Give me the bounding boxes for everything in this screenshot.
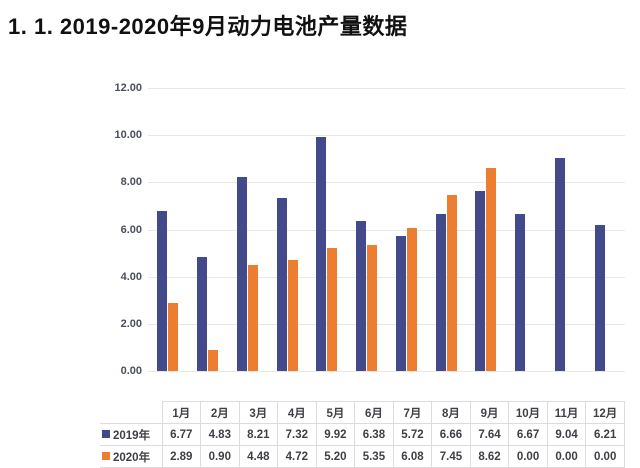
bar: [288, 260, 298, 371]
bar: [327, 248, 337, 371]
bar: [316, 137, 326, 371]
table-cell: 0.00: [547, 446, 586, 468]
y-axis-tick-label: 0.00: [96, 365, 142, 377]
bar: [515, 214, 525, 371]
bar-group: [466, 88, 506, 371]
table-row: 2020年2.890.904.484.725.205.356.087.458.6…: [100, 446, 625, 468]
bar: [486, 168, 496, 371]
table-column-header: 1月: [162, 402, 201, 424]
table-header-row: 1月2月3月4月5月6月7月8月9月10月11月12月: [100, 402, 625, 424]
table-column-header: 2月: [201, 402, 240, 424]
data-table: 1月2月3月4月5月6月7月8月9月10月11月12月 2019年6.774.8…: [100, 401, 625, 468]
table-cell: 6.66: [432, 424, 471, 446]
table-cell: 8.62: [470, 446, 509, 468]
legend-entry[interactable]: 2019年: [100, 424, 162, 446]
legend-swatch-icon: [102, 430, 110, 438]
table-column-header: 7月: [393, 402, 432, 424]
table-cell: 4.72: [278, 446, 317, 468]
y-axis: 0.002.004.006.008.0010.0012.00: [96, 88, 142, 371]
bar: [595, 225, 605, 371]
table-column-header: 12月: [586, 402, 625, 424]
table-cell: 7.64: [470, 424, 509, 446]
bar: [277, 198, 287, 371]
table-cell: 8.21: [239, 424, 278, 446]
bars-layer: [148, 88, 625, 371]
bar: [396, 236, 406, 371]
bar-group: [267, 88, 307, 371]
bar-group: [188, 88, 228, 371]
legend-entry[interactable]: 2020年: [100, 446, 162, 468]
y-axis-tick-label: 12.00: [96, 82, 142, 94]
table-column-header: 3月: [239, 402, 278, 424]
gridline: [148, 371, 625, 372]
bar: [208, 350, 218, 371]
y-axis-tick-label: 4.00: [96, 271, 142, 283]
table-cell: 4.83: [201, 424, 240, 446]
bar-group: [387, 88, 427, 371]
bar-group: [307, 88, 347, 371]
table-cell: 4.48: [239, 446, 278, 468]
page-title: 1. 1. 2019-2020年9月动力电池产量数据: [8, 9, 407, 41]
table-cell: 0.00: [586, 446, 625, 468]
table-column-header: 10月: [509, 402, 548, 424]
bar: [237, 177, 247, 371]
y-axis-tick-label: 8.00: [96, 176, 142, 188]
bar-group: [426, 88, 466, 371]
table-cell: 6.08: [393, 446, 432, 468]
bar: [248, 265, 258, 371]
bar-group: [546, 88, 586, 371]
bar-group: [148, 88, 188, 371]
y-axis-tick-label: 6.00: [96, 224, 142, 236]
table-cell: 2.89: [162, 446, 201, 468]
table-cell: 5.20: [316, 446, 355, 468]
table-row: 2019年6.774.838.217.329.926.385.726.667.6…: [100, 424, 625, 446]
bar: [475, 191, 485, 371]
table-column-header: 8月: [432, 402, 471, 424]
table-cell: 0.00: [509, 446, 548, 468]
bar-chart: 0.002.004.006.008.0010.0012.00 1月2月3月4月5…: [0, 56, 640, 420]
table-cell: 6.67: [509, 424, 548, 446]
table-cell: 7.45: [432, 446, 471, 468]
table-corner-cell: [100, 402, 162, 424]
table-cell: 7.32: [278, 424, 317, 446]
table-cell: 9.92: [316, 424, 355, 446]
bar: [436, 214, 446, 371]
table-column-header: 11月: [547, 402, 586, 424]
table-column-header: 4月: [278, 402, 317, 424]
table-cell: 5.72: [393, 424, 432, 446]
legend-label: 2020年: [113, 452, 150, 464]
y-axis-tick-label: 10.00: [96, 129, 142, 141]
bar: [197, 257, 207, 371]
y-axis-tick-label: 2.00: [96, 318, 142, 330]
legend-label: 2019年: [113, 430, 150, 442]
table-cell: 0.90: [201, 446, 240, 468]
table-body: 2019年6.774.838.217.329.926.385.726.667.6…: [100, 424, 625, 468]
table-cell: 6.21: [586, 424, 625, 446]
bar-group: [228, 88, 268, 371]
table-cell: 5.35: [355, 446, 394, 468]
bar: [157, 211, 167, 371]
table-cell: 6.38: [355, 424, 394, 446]
table-column-header: 6月: [355, 402, 394, 424]
legend-swatch-icon: [102, 452, 110, 460]
bar: [447, 195, 457, 371]
table-cell: 6.77: [162, 424, 201, 446]
bar: [356, 221, 366, 371]
bar: [168, 303, 178, 371]
table-column-header: 9月: [470, 402, 509, 424]
bar-group: [585, 88, 625, 371]
bar: [555, 158, 565, 371]
bar-group: [506, 88, 546, 371]
bar: [367, 245, 377, 371]
bar: [407, 228, 417, 371]
table-cell: 9.04: [547, 424, 586, 446]
table-column-header: 5月: [316, 402, 355, 424]
bar-group: [347, 88, 387, 371]
